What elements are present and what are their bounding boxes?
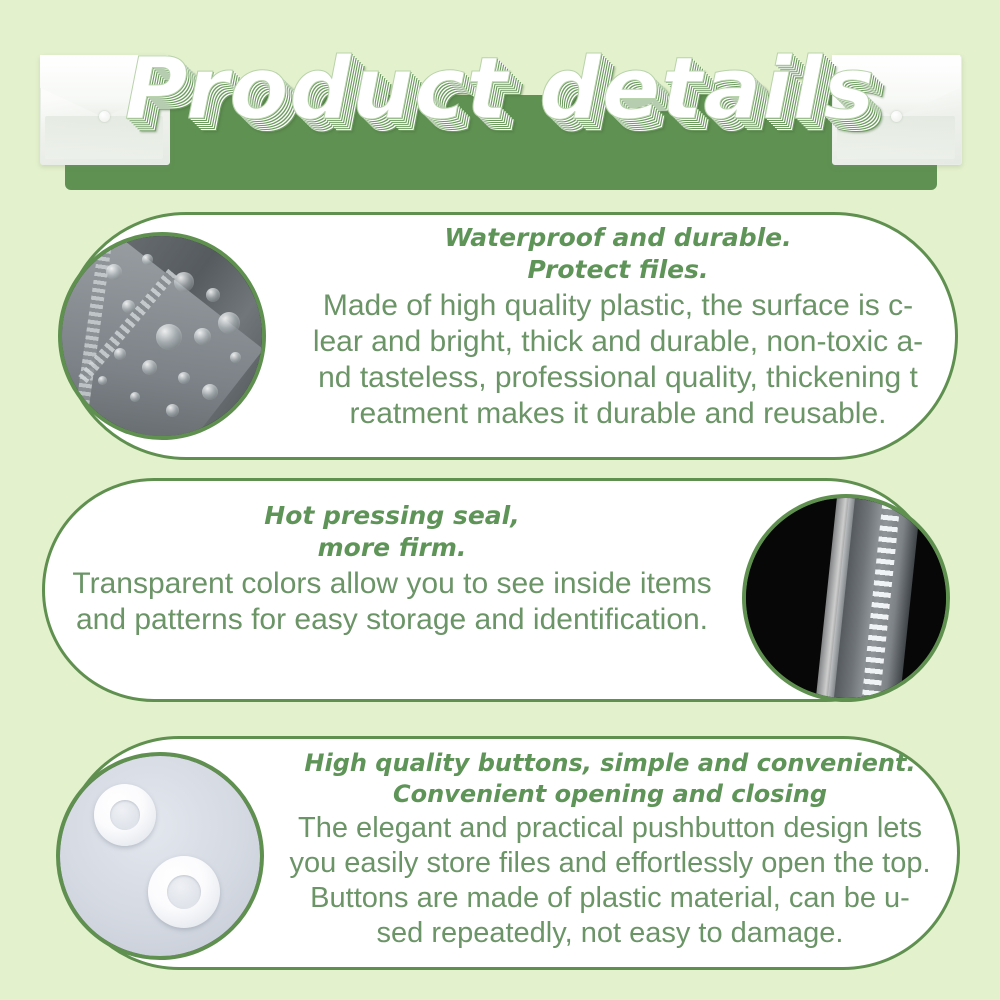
water-droplet [230, 352, 241, 363]
water-droplet [106, 264, 122, 280]
feature-text-waterproof: Waterproof and durable. Protect files. M… [268, 222, 968, 432]
water-droplet [206, 288, 220, 302]
page-title: Product details [0, 46, 1000, 132]
water-droplet [194, 328, 211, 345]
water-droplet [98, 376, 107, 385]
water-droplet [202, 384, 218, 400]
photo-background [60, 756, 260, 956]
water-droplet [174, 272, 194, 292]
water-droplet [156, 324, 182, 350]
card-heading: High quality buttons, simple and conveni… [236, 748, 984, 809]
water-droplet [166, 404, 179, 417]
snap-button [148, 856, 220, 928]
feature-text-high-quality-buttons: High quality buttons, simple and conveni… [236, 748, 984, 951]
snap-button [94, 784, 156, 846]
water-droplet [218, 312, 240, 334]
water-droplet [142, 254, 153, 265]
header-banner: Product details [0, 0, 1000, 200]
water-droplet [114, 348, 126, 360]
feature-text-hot-pressing-seal: Hot pressing seal, more firm. Transparen… [22, 500, 762, 638]
seal-edge-photo [742, 494, 950, 702]
card-heading: Waterproof and durable. Protect files. [268, 222, 968, 286]
water-droplet [142, 360, 157, 375]
snap-buttons-photo [56, 752, 264, 960]
water-droplet [122, 300, 135, 313]
card-heading: Hot pressing seal, more firm. [22, 500, 762, 564]
water-droplet [178, 372, 190, 384]
card-body: The elegant and practical pushbutton des… [236, 811, 984, 950]
water-droplets-photo [58, 232, 266, 440]
card-body: Transparent colors allow you to see insi… [22, 566, 762, 638]
card-body: Made of high quality plastic, the surfac… [268, 288, 968, 432]
water-droplet [130, 392, 140, 402]
